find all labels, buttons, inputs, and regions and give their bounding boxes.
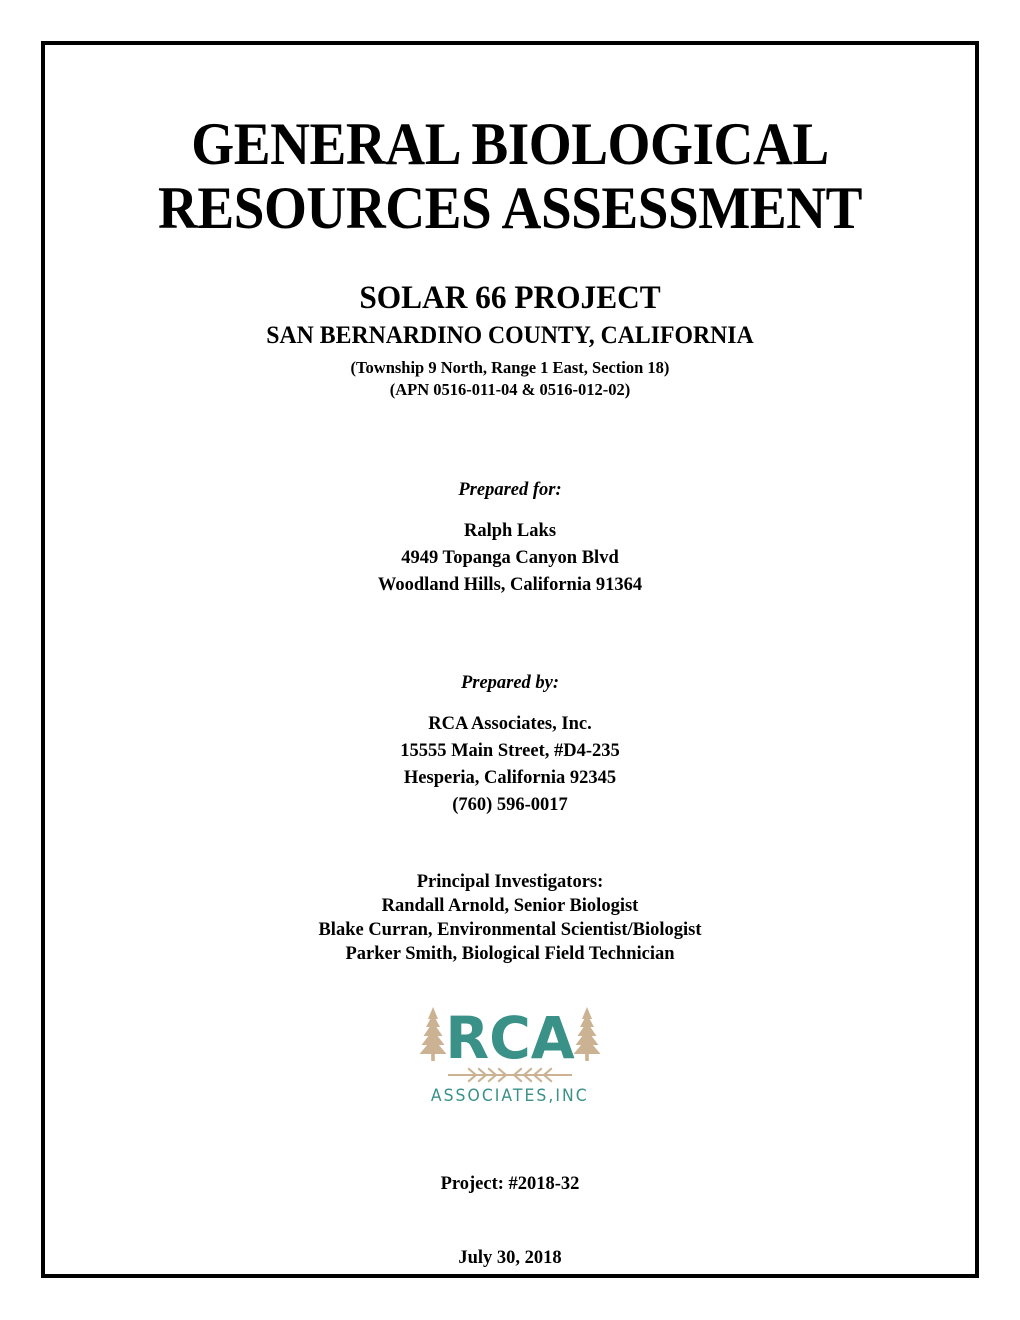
prepared-by-line-2: 15555 Main Street, #D4-235 — [71, 738, 949, 765]
investigator-2: Blake Curran, Environmental Scientist/Bi… — [71, 919, 949, 943]
title-line-1: GENERAL BIOLOGICAL — [106, 113, 914, 177]
investigator-3: Parker Smith, Biological Field Technicia… — [71, 943, 949, 967]
title-line-2: RESOURCES ASSESSMENT — [106, 177, 914, 241]
prepared-by-block: Prepared by: RCA Associates, Inc. 15555 … — [71, 673, 949, 819]
prepared-for-block: Prepared for: Ralph Laks 4949 Topanga Ca… — [71, 480, 949, 599]
legal-line-apn: (APN 0516-011-04 & 0516-012-02) — [71, 379, 949, 401]
investigators-heading: Principal Investigators: — [71, 871, 949, 895]
prepared-for-heading: Prepared for: — [71, 480, 949, 501]
logo-mark: RCA — [418, 1000, 602, 1062]
logo-subtitle: ASSOCIATES,INC — [431, 1086, 589, 1106]
document-date: July 30, 2018 — [71, 1248, 949, 1269]
investigators-block: Principal Investigators: Randall Arnold,… — [71, 871, 949, 966]
prepared-by-line-1: RCA Associates, Inc. — [71, 711, 949, 738]
cover-content: GENERAL BIOLOGICAL RESOURCES ASSESSMENT … — [41, 41, 979, 1278]
pine-tree-icon-left — [418, 1006, 448, 1062]
investigator-1: Randall Arnold, Senior Biologist — [71, 895, 949, 919]
prepared-for-line-3: Woodland Hills, California 91364 — [71, 572, 949, 599]
prepared-for-address: Ralph Laks 4949 Topanga Canyon Blvd Wood… — [71, 518, 949, 599]
rca-logo: RCA — [71, 1000, 949, 1106]
cover-page: GENERAL BIOLOGICAL RESOURCES ASSESSMENT … — [0, 0, 1020, 1320]
prepared-by-address: RCA Associates, Inc. 15555 Main Street, … — [71, 711, 949, 819]
prepared-by-heading: Prepared by: — [71, 673, 949, 694]
logo-wordmark: RCA — [445, 1014, 574, 1064]
prepared-for-line-1: Ralph Laks — [71, 518, 949, 545]
project-location: SAN BERNARDINO COUNTY, CALIFORNIA — [93, 322, 927, 351]
pine-tree-icon-right — [572, 1006, 602, 1062]
project-name: SOLAR 66 PROJECT — [93, 280, 927, 317]
project-legal-description: (Township 9 North, Range 1 East, Section… — [71, 357, 949, 401]
prepared-for-line-2: 4949 Topanga Canyon Blvd — [71, 545, 949, 572]
project-number: Project: #2018-32 — [71, 1174, 949, 1195]
prepared-by-line-3: Hesperia, California 92345 — [71, 765, 949, 792]
page-title: GENERAL BIOLOGICAL RESOURCES ASSESSMENT — [106, 113, 914, 240]
legal-line-township: (Township 9 North, Range 1 East, Section… — [71, 357, 949, 379]
prepared-by-phone: (760) 596-0017 — [71, 792, 949, 819]
